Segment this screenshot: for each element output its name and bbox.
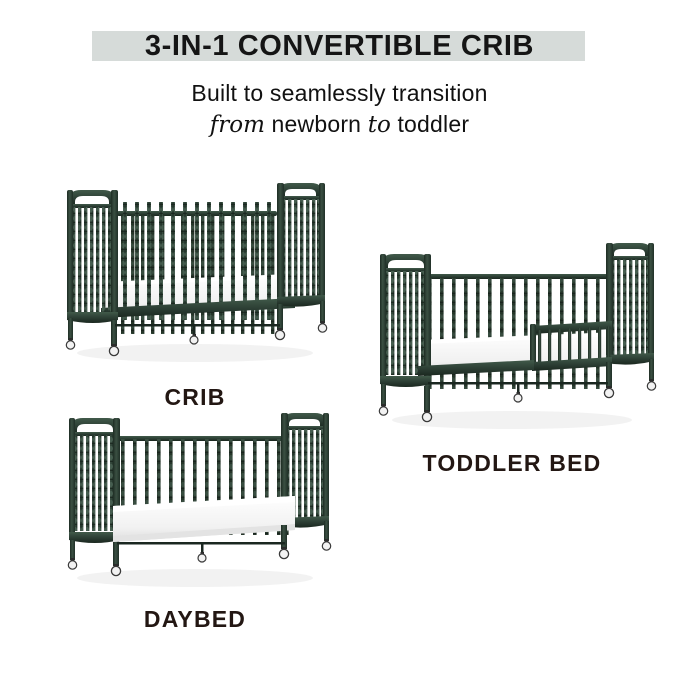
subtitle-line-2: from newborn to toddler	[0, 109, 679, 141]
daybed-left-end-panel	[69, 418, 120, 543]
crib-left-end-panel	[67, 190, 118, 323]
crib-right-end-panel	[277, 183, 325, 307]
product-figure-daybed: DAYBED	[45, 408, 345, 633]
caption-toddler-bed: TODDLER BED	[362, 450, 662, 477]
subtitle-word-toddler: toddler	[397, 111, 469, 137]
crib-support-bar	[115, 324, 280, 327]
product-figure-toddler-bed: TODDLER BED	[362, 240, 662, 477]
subtitle-script-to: to	[368, 112, 391, 138]
page-title-wrapper: 3-IN-1 CONVERTIBLE CRIB	[0, 22, 679, 74]
caption-crib: CRIB	[45, 384, 345, 411]
page-title: 3-IN-1 CONVERTIBLE CRIB	[0, 22, 679, 70]
toddler-bed-illustration	[362, 240, 662, 440]
subtitle-word-newborn: newborn	[272, 111, 362, 137]
subtitle-script-from: from	[210, 112, 265, 138]
page-subtitle: Built to seamlessly transition from newb…	[0, 78, 679, 141]
subtitle-line-1: Built to seamlessly transition	[0, 78, 679, 109]
header: 3-IN-1 CONVERTIBLE CRIB Built to seamles…	[0, 0, 679, 141]
toddler-right-end-panel	[606, 243, 654, 365]
product-figure-crib: CRIB	[45, 178, 345, 411]
daybed-illustration	[45, 408, 345, 598]
daybed-mattress	[113, 496, 295, 542]
crib-illustration	[45, 178, 345, 378]
caption-daybed: DAYBED	[45, 606, 345, 633]
